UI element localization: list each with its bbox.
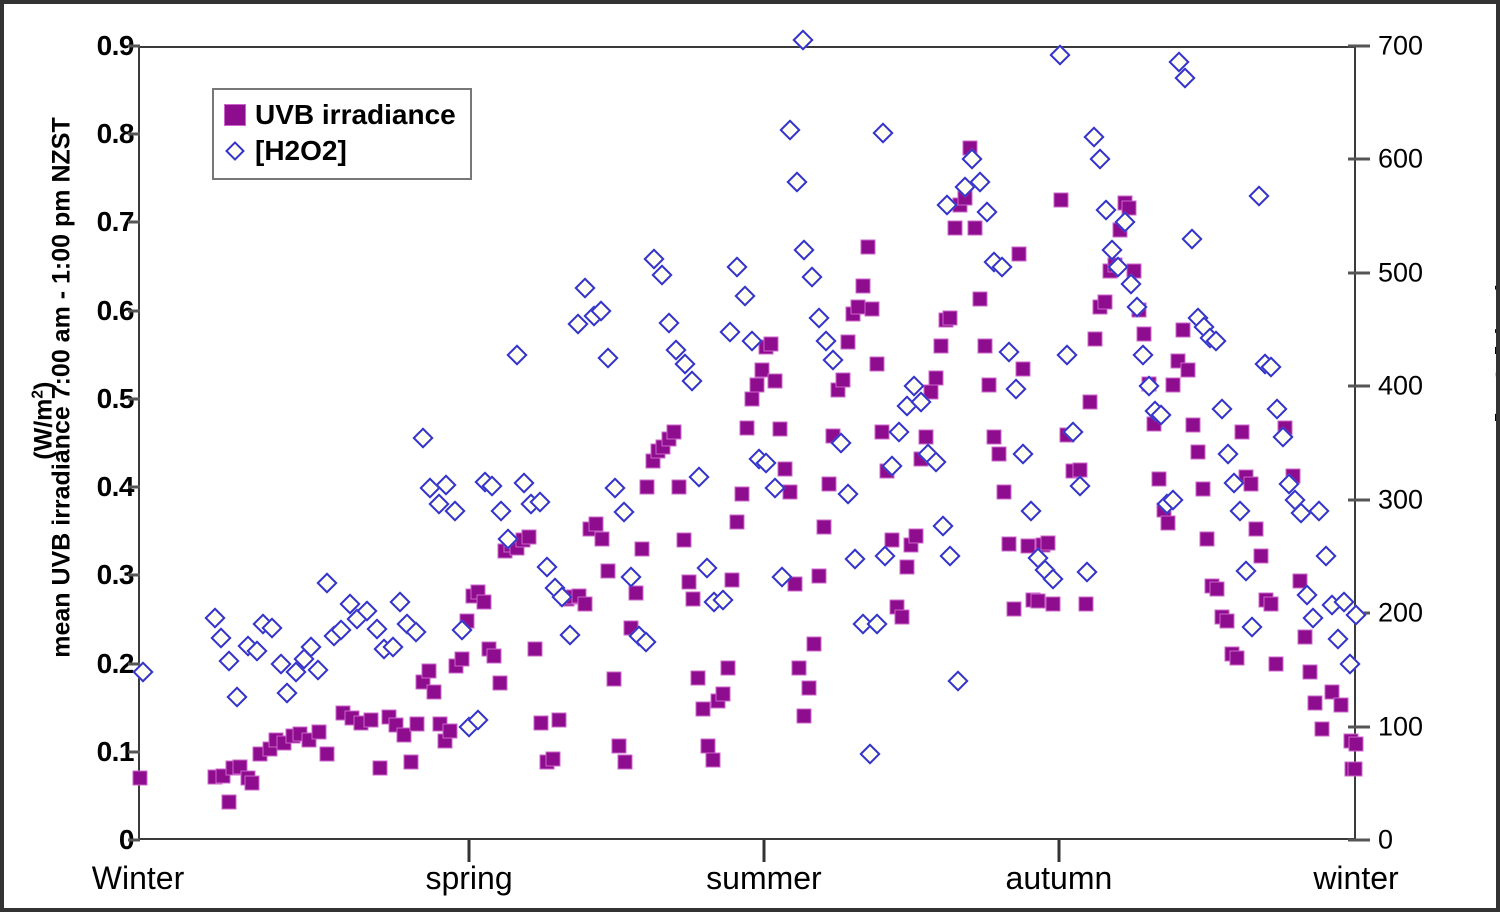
y-axis-left-tick-label: 0.8 (64, 118, 134, 150)
y-axis-right-tick-label: 500 (1378, 257, 1423, 288)
y-axis-left-tick-label: 0 (64, 824, 134, 856)
y-axis-left-title-units: (W/m2) (29, 321, 58, 521)
legend-item-h2o2[interactable]: [H2O2] (224, 133, 456, 169)
filled-square-marker-icon (224, 104, 246, 126)
y-axis-left-tick-mark (128, 133, 140, 136)
y-axis-left-tick-label: 0.6 (64, 295, 134, 327)
y-axis-right-tick-label: 300 (1378, 484, 1423, 515)
y-axis-right-tick-mark (1348, 612, 1370, 615)
open-diamond-marker-icon (224, 140, 246, 162)
y-axis-left-tick-label: 0.7 (64, 206, 134, 238)
x-axis-tick-mark (762, 840, 765, 862)
chart-legend: UVB irradiance [H2O2] (212, 88, 472, 180)
y-axis-right-tick-label: 200 (1378, 598, 1423, 629)
y-axis-left-tick-mark (128, 839, 140, 842)
y-axis-right-tick-mark (1348, 839, 1370, 842)
y-axis-left-tick-mark (128, 486, 140, 489)
y-axis-right-tick-mark (1348, 271, 1370, 274)
y-axis-left-tick-label: 0.5 (64, 383, 134, 415)
legend-label-h2o2: [H2O2] (255, 135, 347, 167)
y-axis-left-tick-mark (128, 397, 140, 400)
y-axis-left-tick-label: 0.3 (64, 559, 134, 591)
y-axis-right-tick-label: 400 (1378, 371, 1423, 402)
y-axis-right-tick-mark (1348, 45, 1370, 48)
open-diamond-shape (225, 141, 245, 161)
x-axis-tick-label-summer: summer (706, 860, 822, 897)
y-axis-left-tick-label: 0.4 (64, 471, 134, 503)
y-axis-right-tick-label: 600 (1378, 144, 1423, 175)
x-axis-tick-label-winter: Winter (92, 860, 184, 897)
x-axis-tick-mark (468, 840, 471, 862)
legend-label-uvb-irradiance: UVB irradiance (255, 99, 456, 131)
y-axis-left-tick-mark (128, 574, 140, 577)
x-axis-tick-label-spring: spring (425, 860, 512, 897)
y-axis-left-tick-mark (128, 221, 140, 224)
y-axis-right-tick-label: 700 (1378, 31, 1423, 62)
y-axis-left-tick-mark (128, 45, 140, 48)
x-axis-tick-mark (1057, 840, 1060, 862)
y-axis-left-tick-label: 0.9 (64, 30, 134, 62)
x-axis-tick-label-autumn: autumn (1006, 860, 1113, 897)
x-axis-tick-label-winter: winter (1313, 860, 1398, 897)
y-axis-right-tick-label: 0 (1378, 825, 1393, 856)
y-axis-right-tick-mark (1348, 498, 1370, 501)
y-axis-right-tick-mark (1348, 385, 1370, 388)
y-axis-right-tick-mark (1348, 158, 1370, 161)
y-axis-left-tick-mark (128, 750, 140, 753)
y-axis-left-tick-label: 0.2 (64, 648, 134, 680)
legend-item-uvb-irradiance[interactable]: UVB irradiance (224, 97, 456, 133)
figure-container: mean UVB irradiance 7:00 am - 1:00 pm NZ… (0, 0, 1500, 912)
y-axis-left-tick-mark (128, 662, 140, 665)
y-axis-left-tick-mark (128, 309, 140, 312)
y-axis-left-tick-label: 0.1 (64, 736, 134, 768)
y-axis-right-tick-label: 100 (1378, 711, 1423, 742)
y-axis-right-title: [H2O2] (nM) (1490, 222, 1500, 482)
y-axis-right-tick-mark (1348, 725, 1370, 728)
